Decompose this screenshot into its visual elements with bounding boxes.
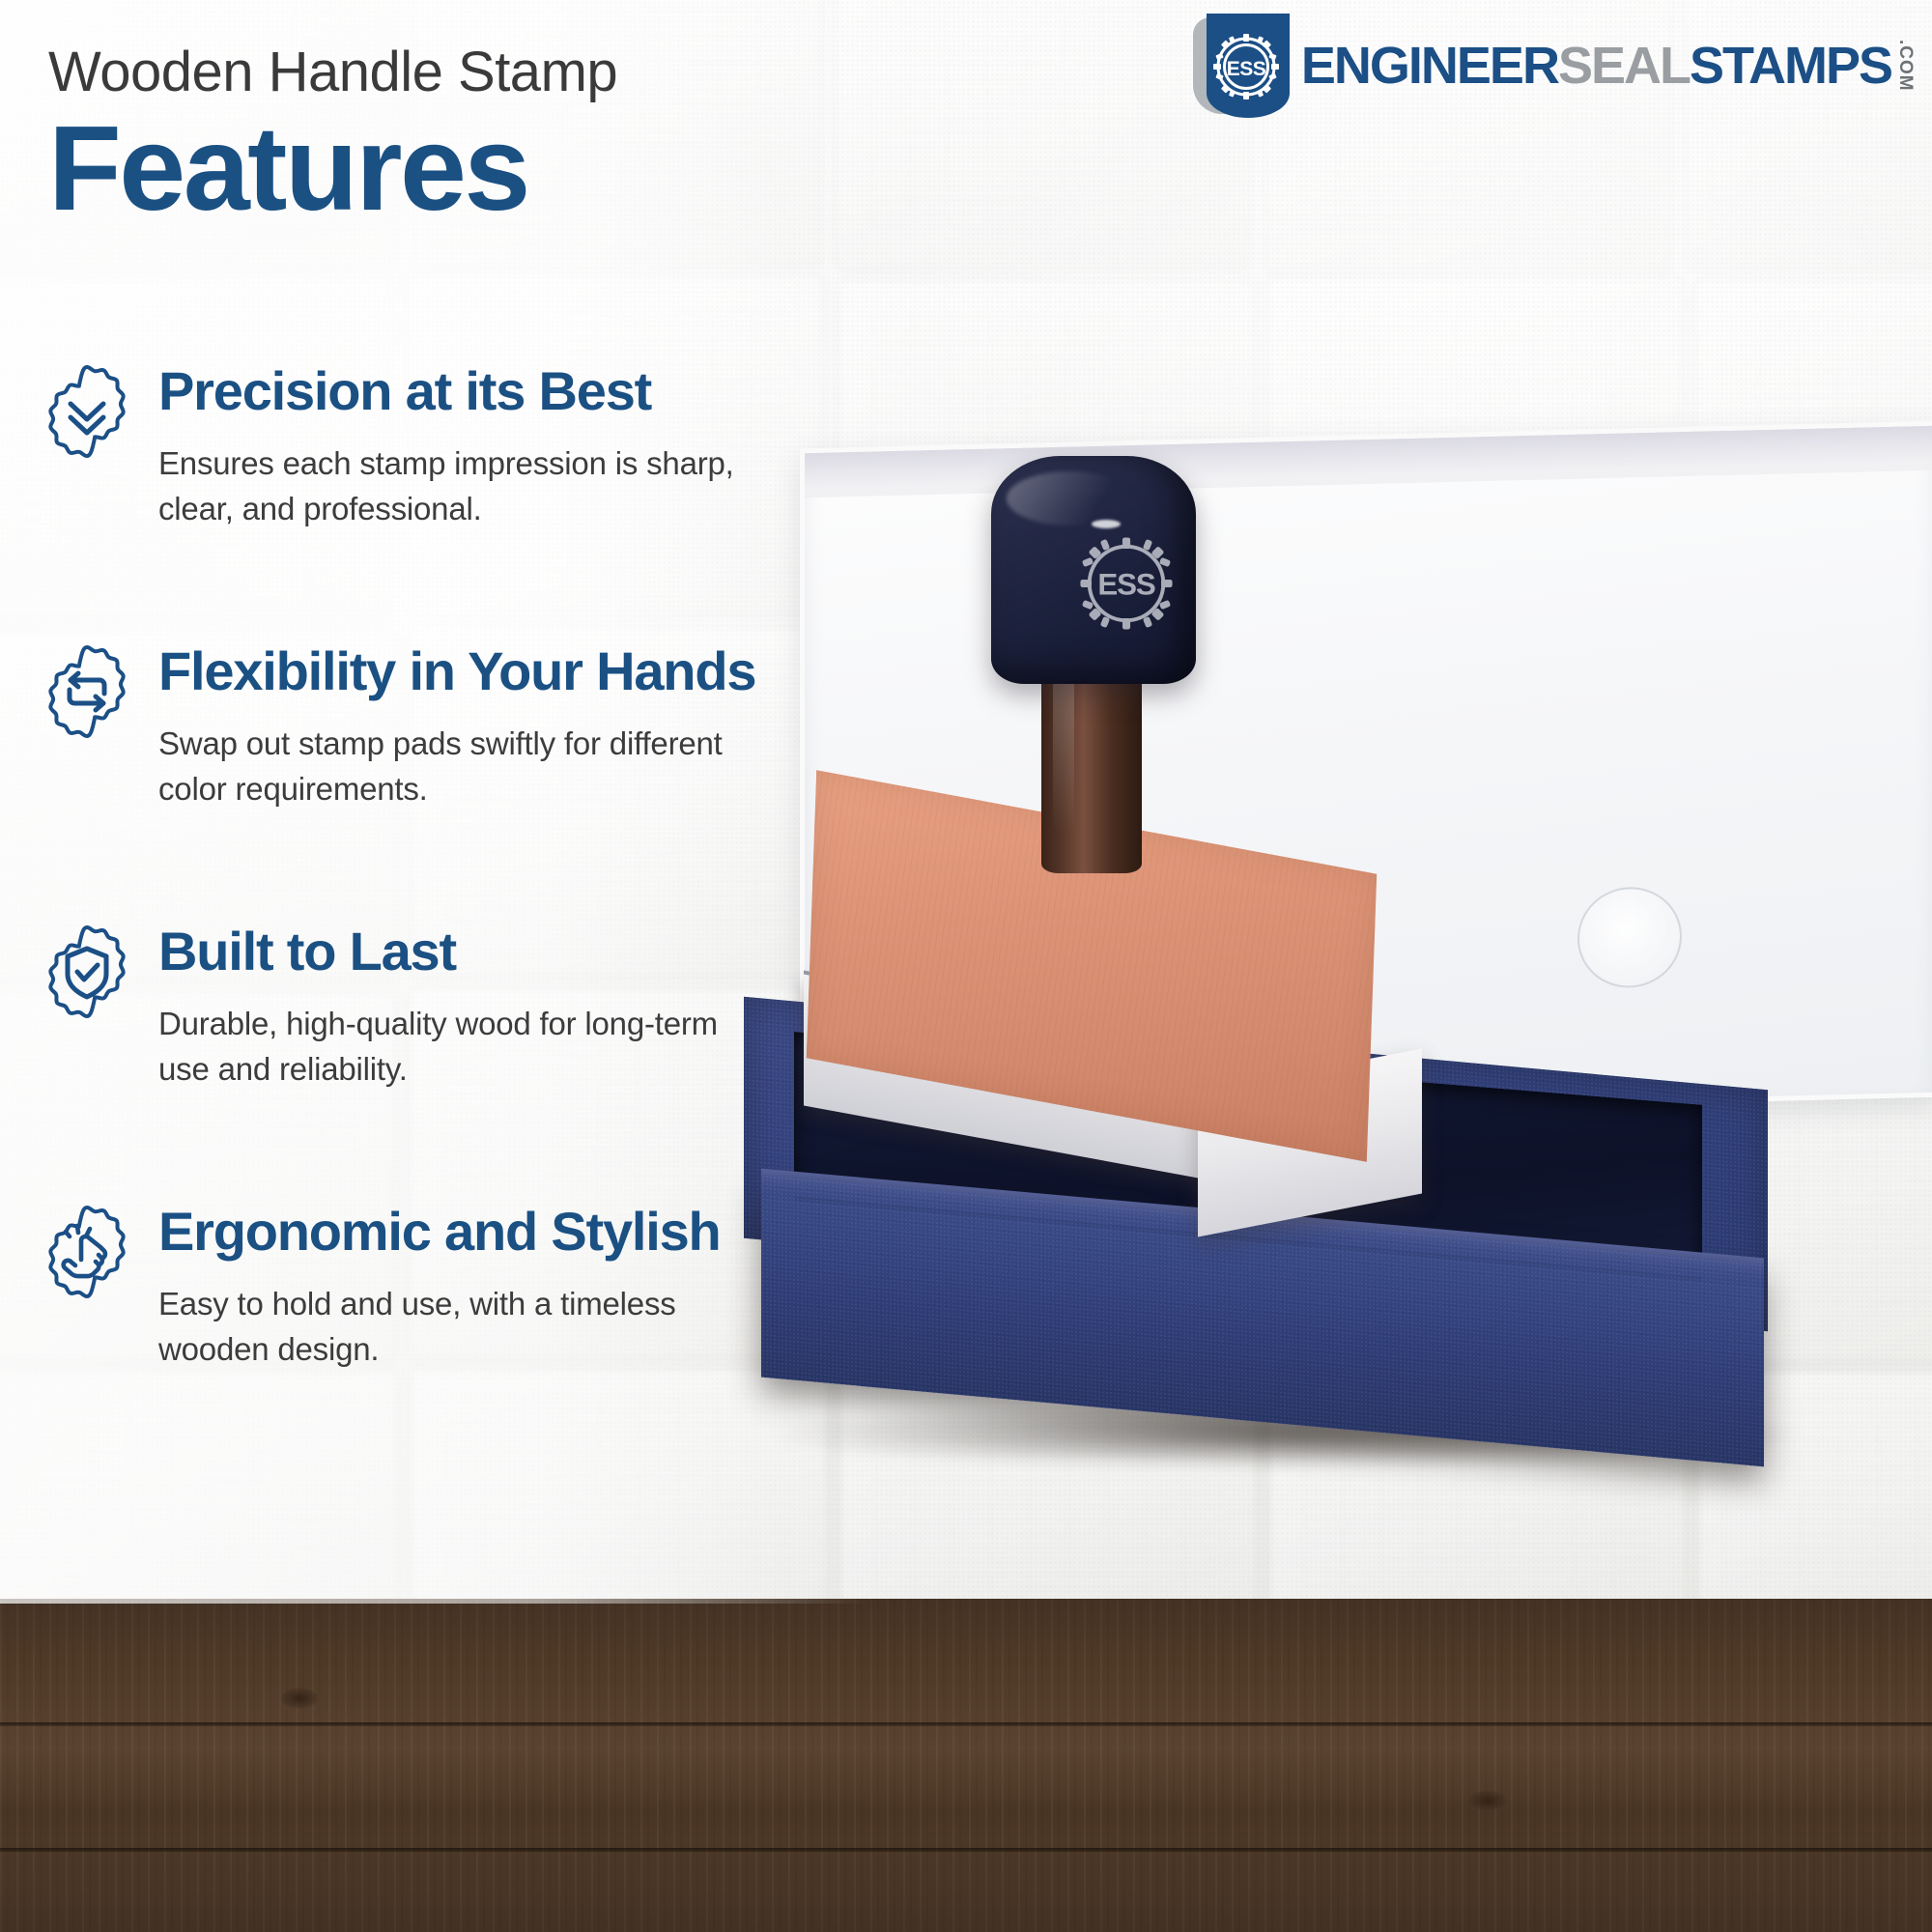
header-kicker: Wooden Handle Stamp [48, 43, 898, 103]
product-photo: ESS [715, 406, 1932, 1642]
logo-word-seal: SEAL [1558, 40, 1690, 92]
brand-logo[interactable]: ESS ENGINEER SEAL STAMPS .COM [1193, 14, 1915, 118]
logo-word-engineer: ENGINEER [1301, 40, 1558, 92]
badge-double-chevron-down-icon [39, 363, 135, 460]
svg-text:ESS: ESS [1097, 568, 1154, 602]
page-header: Wooden Handle Stamp Features [48, 43, 898, 229]
feature-description: Swap out stamp pads swiftly for differen… [158, 722, 777, 812]
logo-tld: .COM [1896, 40, 1915, 92]
badge-shield-check-icon [39, 923, 135, 1020]
badge-swap-arrows-icon [39, 643, 135, 740]
svg-text:ESS: ESS [1227, 58, 1266, 80]
stamp-handle-knob: ESS [991, 456, 1196, 684]
feature-description: Ensures each stamp impression is sharp, … [158, 441, 777, 532]
feature-description: Durable, high-quality wood for long-term… [158, 1002, 777, 1093]
ess-gear-badge-icon: ESS [1193, 14, 1297, 118]
feature-description: Easy to hold and use, with a timeless wo… [158, 1282, 777, 1373]
logo-word-stamps: STAMPS [1690, 40, 1891, 92]
wood-table-surface [0, 1599, 1932, 1932]
stamp-handle-shaft [1041, 659, 1142, 873]
wooden-handle-stamp: ESS [811, 821, 1430, 1362]
badge-tap-hand-icon [39, 1204, 135, 1300]
page-title: Features [48, 109, 898, 229]
ess-gear-icon: ESS [1070, 527, 1182, 639]
